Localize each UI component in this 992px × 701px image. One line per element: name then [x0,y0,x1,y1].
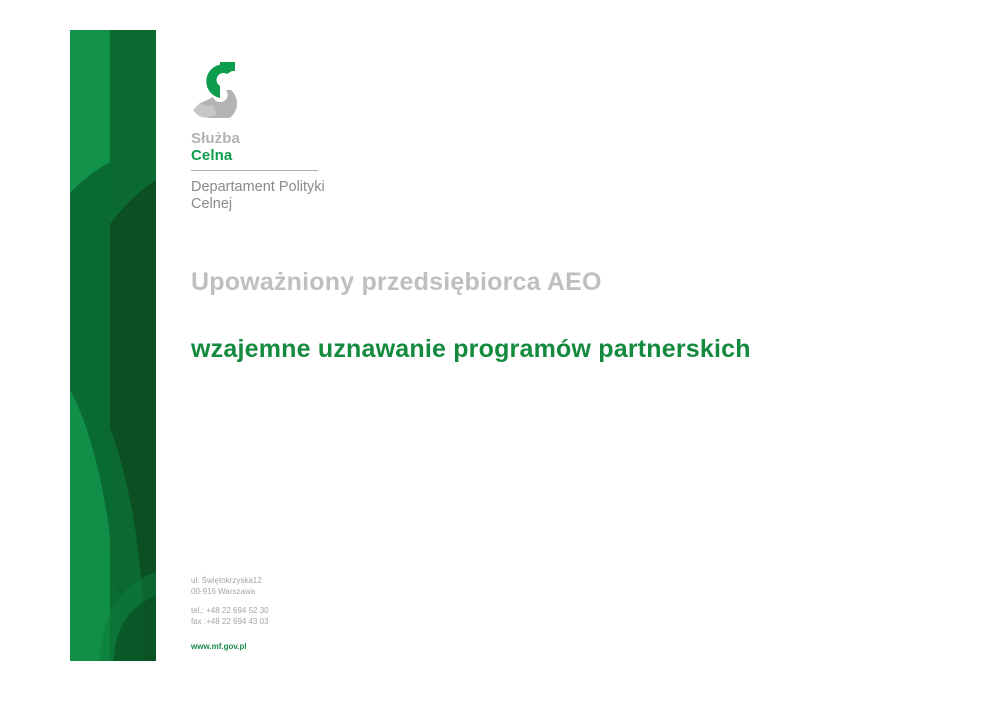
department-line-2: Celnej [191,196,411,213]
decorative-green-band [70,30,156,661]
department-line-1: Departament Polityki [191,179,411,196]
logo-glyph [191,56,243,118]
footer-address-group: ul. Świętokrzyska12 00-916 Warszawa [191,576,401,597]
slide-canvas: Służba Celna Departament Polityki Celnej… [0,0,992,701]
slide-subject-heading: Upoważniony przedsiębiorca AEO [191,268,602,297]
slide-topic-heading: wzajemne uznawanie programów partnerskic… [191,335,751,364]
green-band-graphic [70,30,156,661]
logo-green-cap [220,62,235,71]
brand-lockup: Służba Celna Departament Polityki Celnej [191,130,411,213]
footer-fax: fax :+48 22 694 43 03 [191,617,401,628]
footer-address-city: 00-916 Warszawa [191,587,401,598]
footer-phone-group: tel.: +48 22 694 52 30 fax :+48 22 694 4… [191,606,401,627]
sluzba-celna-logo-icon [191,56,243,118]
brand-divider [191,170,318,171]
footer-address-street: ul. Świętokrzyska12 [191,576,401,587]
footer-telephone: tel.: +48 22 694 52 30 [191,606,401,617]
brand-line-sluzba: Służba [191,130,411,147]
brand-line-celna: Celna [191,147,411,164]
footer-contact-block: ul. Świętokrzyska12 00-916 Warszawa tel.… [191,576,401,654]
footer-website-link[interactable]: www.mf.gov.pl [191,642,247,653]
